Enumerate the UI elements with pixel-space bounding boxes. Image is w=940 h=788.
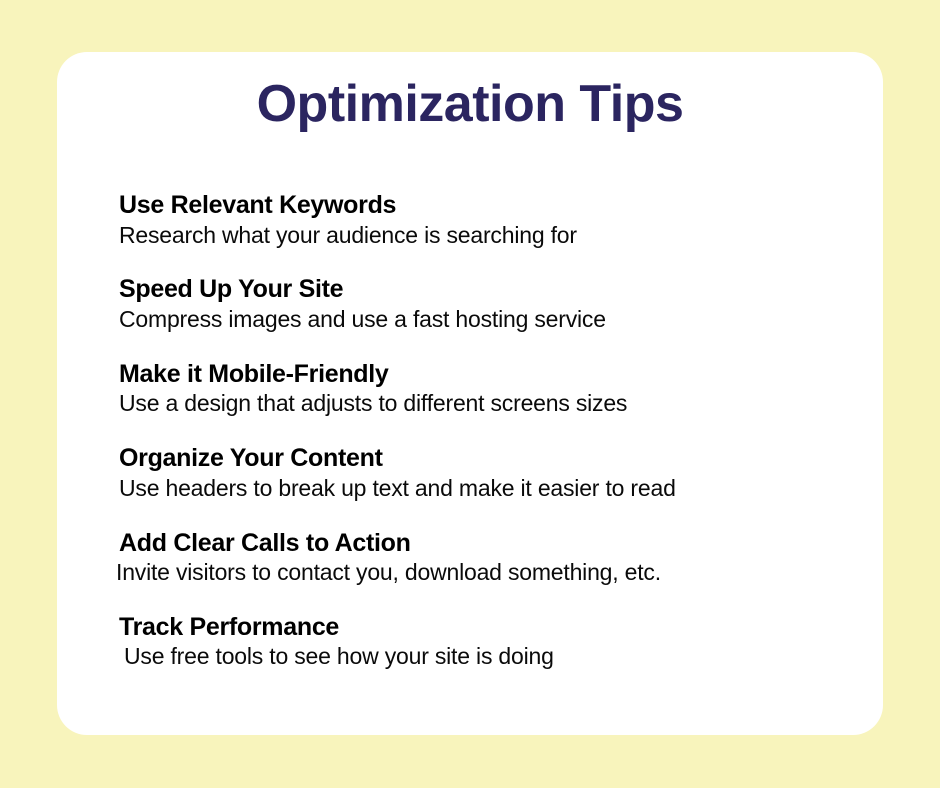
tip-detail: Use free tools to see how your site is d… (124, 642, 859, 672)
tip-heading: Use Relevant Keywords (119, 190, 859, 221)
tip-heading: Make it Mobile-Friendly (119, 359, 859, 390)
tip-detail: Compress images and use a fast hosting s… (119, 305, 859, 335)
tip-heading: Track Performance (119, 612, 859, 643)
tip-detail: Invite visitors to contact you, download… (116, 558, 859, 588)
tip-heading: Add Clear Calls to Action (119, 528, 859, 559)
tip-heading: Speed Up Your Site (119, 274, 859, 305)
tip-detail: Research what your audience is searching… (119, 221, 859, 251)
list-item: Add Clear Calls to Action Invite visitor… (119, 528, 859, 588)
tip-detail: Use a design that adjusts to different s… (119, 389, 859, 419)
tip-heading: Organize Your Content (119, 443, 859, 474)
tip-detail: Use headers to break up text and make it… (119, 474, 859, 504)
poster-canvas: Optimization Tips Use Relevant Keywords … (0, 0, 940, 788)
list-item: Track Performance Use free tools to see … (119, 612, 859, 672)
tips-card: Optimization Tips Use Relevant Keywords … (57, 52, 883, 735)
list-item: Speed Up Your Site Compress images and u… (119, 274, 859, 334)
list-item: Make it Mobile-Friendly Use a design tha… (119, 359, 859, 419)
list-item: Use Relevant Keywords Research what your… (119, 190, 859, 250)
page-title: Optimization Tips (57, 78, 883, 130)
tips-list: Use Relevant Keywords Research what your… (119, 190, 859, 672)
list-item: Organize Your Content Use headers to bre… (119, 443, 859, 503)
